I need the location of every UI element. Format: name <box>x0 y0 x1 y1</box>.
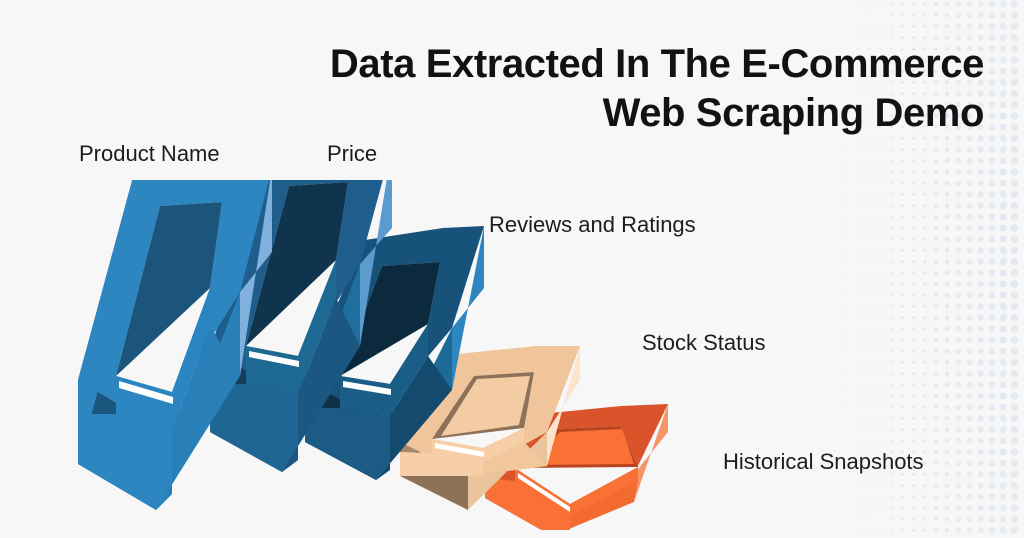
label-historical-snapshots: Historical Snapshots <box>723 449 924 475</box>
label-reviews-and-ratings: Reviews and Ratings <box>489 212 696 238</box>
label-price: Price <box>327 141 377 167</box>
page-title: Data Extracted In The E-Commerce Web Scr… <box>200 40 984 138</box>
hex-ring-product-name <box>78 180 272 510</box>
label-stock-status: Stock Status <box>642 330 766 356</box>
infographic-canvas: Data Extracted In The E-Commerce Web Scr… <box>0 0 1024 538</box>
label-product-name: Product Name <box>79 141 220 167</box>
